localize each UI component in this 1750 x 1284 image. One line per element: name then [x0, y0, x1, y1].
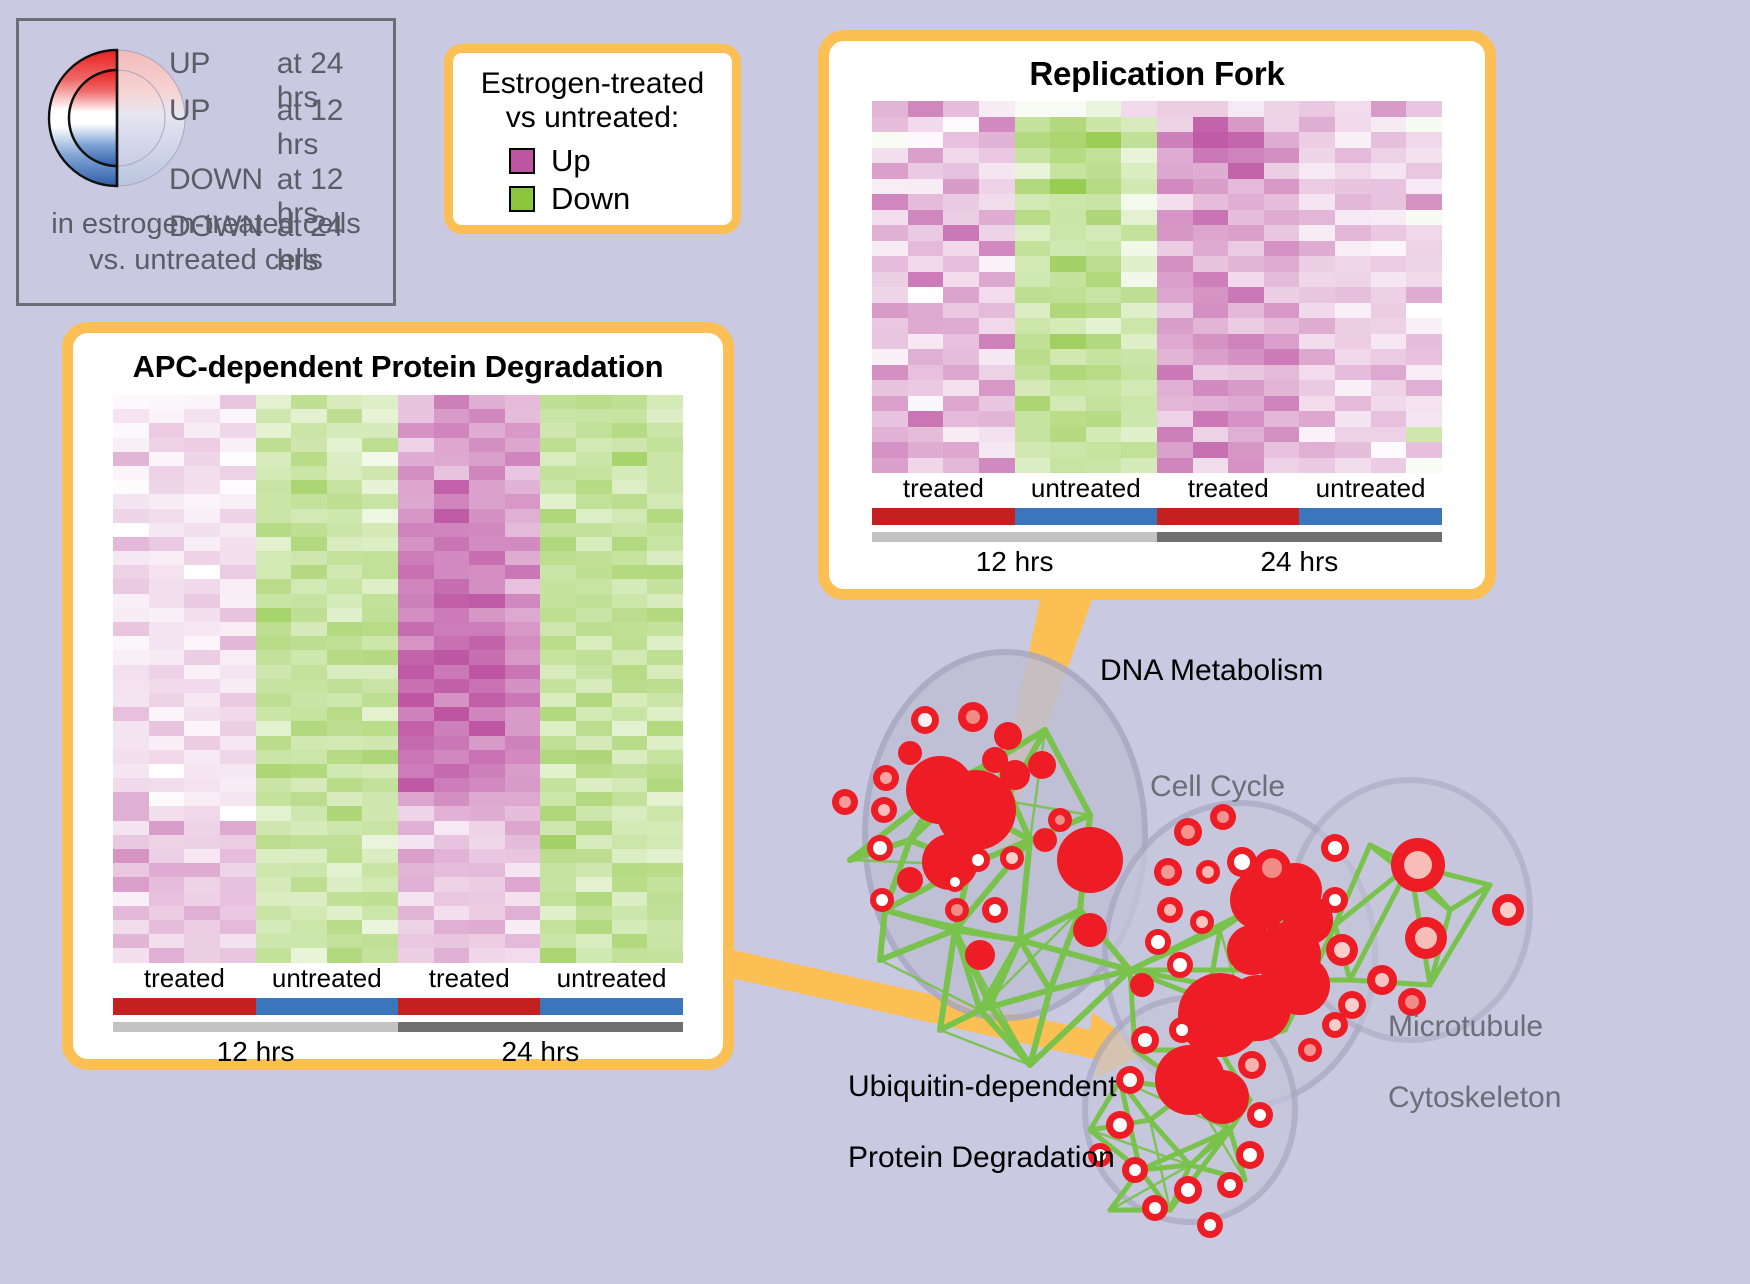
estrogen-legend-items: Up Down	[453, 142, 732, 218]
heatmap-cell	[1121, 117, 1157, 133]
heatmap-cell	[943, 396, 979, 412]
heatmap-cell	[256, 395, 292, 409]
heatmap-cell	[576, 906, 612, 920]
heatmap-cell	[362, 849, 398, 863]
heatmap-cell	[979, 117, 1015, 133]
heatmap-cell	[1050, 256, 1086, 272]
heatmap-cell	[1015, 163, 1051, 179]
heatmap-cell	[1299, 241, 1335, 257]
heatmap-cell	[612, 920, 648, 934]
timepoint-labels: 12 hrs 24 hrs	[113, 1036, 683, 1068]
heatmap-cell	[256, 679, 292, 693]
heatmap-cell	[256, 466, 292, 480]
heatmap-cell	[505, 594, 541, 608]
heatmap-cell	[362, 395, 398, 409]
heatmap-cell	[398, 551, 434, 565]
heatmap-cell	[113, 707, 149, 721]
heatmap-cell	[1050, 101, 1086, 117]
heatmap-cell	[327, 835, 363, 849]
heatmap-cell	[1086, 318, 1122, 334]
heatmap-cell	[434, 707, 470, 721]
heatmap-cell	[540, 806, 576, 820]
heatmap-cell	[113, 636, 149, 650]
heatmap-cell	[149, 579, 185, 593]
heatmap-cell	[576, 750, 612, 764]
heatmap-cell	[872, 148, 908, 164]
heatmap-cell	[1406, 396, 1442, 412]
cluster-label-line2: Cytoskeleton	[1388, 1080, 1561, 1115]
estrogen-legend-title-line1: Estrogen-treated	[453, 67, 732, 101]
heatmap-cell	[505, 863, 541, 877]
heatmap-cell	[434, 821, 470, 835]
heatmap-cell	[576, 579, 612, 593]
heatmap-cell	[612, 636, 648, 650]
heatmap-cell	[1406, 194, 1442, 210]
heatmap-cell	[943, 442, 979, 458]
heatmap-cell	[576, 665, 612, 679]
heatmap-cell	[434, 792, 470, 806]
heatmap-cell	[612, 863, 648, 877]
key-direction: UP	[169, 47, 277, 81]
heatmap-cell	[908, 132, 944, 148]
heatmap-cell	[398, 636, 434, 650]
heatmap-cell	[149, 821, 185, 835]
heatmap-cell	[327, 721, 363, 735]
heatmap-cell	[1157, 334, 1193, 350]
heatmap-cell	[469, 452, 505, 466]
heatmap-cell	[612, 565, 648, 579]
heatmap-cell	[291, 409, 327, 423]
heatmap-cell	[434, 906, 470, 920]
heatmap-cell	[1086, 396, 1122, 412]
heatmap-cell	[1157, 132, 1193, 148]
heatmap-cell	[1264, 365, 1300, 381]
heatmap-cell	[469, 806, 505, 820]
heatmap-cell	[362, 665, 398, 679]
heatmap-cell	[220, 608, 256, 622]
heatmap-cell	[647, 849, 683, 863]
heatmap-cell	[1371, 101, 1407, 117]
heatmap-cell	[469, 736, 505, 750]
heatmap-cell	[1086, 210, 1122, 226]
heatmap-cell	[1121, 396, 1157, 412]
heatmap-cell	[398, 452, 434, 466]
heatmap-cell	[540, 736, 576, 750]
heatmap-cell	[398, 863, 434, 877]
heatmap-cell	[469, 395, 505, 409]
heatmap-cell	[1406, 272, 1442, 288]
heatmap-cell	[1015, 458, 1051, 474]
heatmap-cell	[220, 934, 256, 948]
heatmap-cell	[327, 849, 363, 863]
heatmap-cell	[184, 750, 220, 764]
heatmap-cell	[149, 778, 185, 792]
heatmap-cell	[398, 920, 434, 934]
heatmap-cell	[327, 579, 363, 593]
heatmap-cell	[505, 736, 541, 750]
heatmap-cell	[1371, 272, 1407, 288]
heatmap-cell	[1193, 365, 1229, 381]
column-annotations-apc: treated untreated treated untreated 12 h	[113, 963, 683, 1068]
heatmap-cell	[113, 409, 149, 423]
down-swatch-icon	[509, 186, 535, 212]
heatmap-cell	[256, 452, 292, 466]
treatment-label: treated	[1157, 473, 1299, 504]
heatmap-cell	[647, 452, 683, 466]
heatmap-cell	[149, 565, 185, 579]
heatmap-cell	[113, 579, 149, 593]
heatmap-cell	[149, 523, 185, 537]
heatmap-cell	[576, 551, 612, 565]
heatmap-cell	[1050, 225, 1086, 241]
heatmap-cell	[647, 395, 683, 409]
heatmap-cell	[327, 906, 363, 920]
heatmap-cell	[149, 409, 185, 423]
heatmap-cell	[540, 665, 576, 679]
heatmap-cell	[612, 721, 648, 735]
heatmap-cell	[149, 863, 185, 877]
heatmap-cell	[469, 466, 505, 480]
heatmap-cell	[469, 821, 505, 835]
heatmap-cell	[220, 579, 256, 593]
estrogen-legend-title-line2: vs untreated:	[453, 101, 732, 135]
heatmap-cell	[1086, 442, 1122, 458]
heatmap-cell	[943, 256, 979, 272]
heatmap-cell	[1015, 318, 1051, 334]
heatmap-cell	[943, 318, 979, 334]
heatmap-cell	[184, 494, 220, 508]
heatmap-cell	[943, 179, 979, 195]
heatmap-cell	[184, 509, 220, 523]
heatmap-cell	[647, 480, 683, 494]
heatmap-cell	[220, 494, 256, 508]
heatmap-cell	[1086, 225, 1122, 241]
heatmap-cell	[1371, 256, 1407, 272]
heatmap-cell	[220, 480, 256, 494]
heatmap-cell	[576, 452, 612, 466]
heatmap-cell	[1121, 148, 1157, 164]
heatmap-cell	[647, 565, 683, 579]
heatmap-cell	[612, 750, 648, 764]
heatmap-cell	[291, 679, 327, 693]
heatmap-cell	[612, 821, 648, 835]
heatmap-cell	[908, 427, 944, 443]
heatmap-cell	[362, 579, 398, 593]
heatmap-cell	[469, 594, 505, 608]
heatmap-cell	[540, 650, 576, 664]
heatmap-cell	[113, 650, 149, 664]
heatmap-cell	[908, 442, 944, 458]
heatmap-cell	[1193, 256, 1229, 272]
heatmap-cell	[184, 849, 220, 863]
heatmap-cell	[1050, 117, 1086, 133]
heatmap-cell	[1335, 148, 1371, 164]
heatmap-cell	[1157, 396, 1193, 412]
heatmap-cell	[1406, 241, 1442, 257]
heatmap-cell	[1371, 334, 1407, 350]
heatmap-cell	[469, 835, 505, 849]
heatmap-cell	[291, 452, 327, 466]
heatmap-cell	[149, 395, 185, 409]
heatmap-cell	[327, 806, 363, 820]
heatmap-cell	[220, 679, 256, 693]
heatmap-cell	[1193, 210, 1229, 226]
heatmap-cell	[1228, 148, 1264, 164]
heatmap-cell	[1371, 132, 1407, 148]
heatmap-cell	[540, 594, 576, 608]
cluster-label-line2: Protein Degradation	[848, 1140, 1117, 1175]
heatmap-cell	[908, 272, 944, 288]
heatmap-cell	[505, 494, 541, 508]
heatmap-cell	[1228, 303, 1264, 319]
heatmap-cell	[256, 835, 292, 849]
heatmap-cell	[113, 438, 149, 452]
heatmap-cell	[327, 792, 363, 806]
heatmap-cell	[1050, 349, 1086, 365]
heatmap-cell	[398, 750, 434, 764]
heatmap-cell	[398, 821, 434, 835]
heatmap-cell	[576, 509, 612, 523]
heatmap-cell	[184, 863, 220, 877]
heatmap-cell	[647, 693, 683, 707]
heatmap-cell	[647, 821, 683, 835]
heatmap-cell	[149, 551, 185, 565]
legend-label-up: Up	[551, 143, 591, 179]
heatmap-cell	[256, 665, 292, 679]
heatmap-cell	[647, 792, 683, 806]
heatmap-cell	[291, 622, 327, 636]
heatmap-cell	[1264, 210, 1300, 226]
heatmap-cell	[113, 750, 149, 764]
heatmap-cell	[540, 636, 576, 650]
timepoint-bar-segment	[1157, 532, 1442, 542]
heatmap-cell	[1371, 241, 1407, 257]
heatmap-cell	[113, 877, 149, 891]
heatmap-cell	[612, 423, 648, 437]
heatmap-cell	[1121, 365, 1157, 381]
heatmap-cell	[362, 764, 398, 778]
heatmap-cell	[149, 452, 185, 466]
heatmap-cell	[362, 565, 398, 579]
heatmap-cell	[1086, 272, 1122, 288]
heatmap-cell	[908, 349, 944, 365]
heatmap-cell	[291, 892, 327, 906]
heatmap-cell	[505, 679, 541, 693]
heatmap-cell	[398, 948, 434, 962]
heatmap-cell	[184, 523, 220, 537]
heatmap-cell	[398, 835, 434, 849]
heatmap-cell	[434, 438, 470, 452]
heatmap-cell	[872, 334, 908, 350]
heatmap-cell	[979, 132, 1015, 148]
heatmap-cell	[505, 750, 541, 764]
cluster-label-line1: Ubiquitin-dependent	[848, 1069, 1117, 1104]
heatmap-cell	[647, 863, 683, 877]
heatmap-cell	[1228, 349, 1264, 365]
heatmap-cell	[1371, 303, 1407, 319]
heatmap-cell	[256, 736, 292, 750]
heatmap-cell	[113, 679, 149, 693]
heatmap-cell	[1015, 427, 1051, 443]
heatmap-cell	[256, 622, 292, 636]
heatmap-cell	[647, 438, 683, 452]
heatmap-cell	[1086, 411, 1122, 427]
heatmap-cell	[1406, 148, 1442, 164]
heatmap-cell	[1406, 287, 1442, 303]
heatmap-cell	[612, 409, 648, 423]
heatmap-cell	[540, 409, 576, 423]
heatmap-cell	[256, 863, 292, 877]
heatmap-cell	[647, 423, 683, 437]
heatmap-cell	[1050, 458, 1086, 474]
heatmap-cell	[943, 380, 979, 396]
heatmap-cell	[540, 608, 576, 622]
heatmap-cell	[291, 778, 327, 792]
heatmap-cell	[434, 877, 470, 891]
heatmap-cell	[612, 877, 648, 891]
heatmap-cell	[576, 721, 612, 735]
heatmap-cell	[398, 764, 434, 778]
key-row: DOWN at 12 hrs	[169, 163, 389, 210]
cluster-label-dna-metabolism: DNA Metabolism	[1100, 654, 1323, 688]
heatmap-cell	[612, 707, 648, 721]
heatmap-cell	[647, 665, 683, 679]
heatmap-cell	[1299, 225, 1335, 241]
heatmap-cell	[1371, 148, 1407, 164]
heatmap-cell	[908, 318, 944, 334]
heatmap-cell	[576, 934, 612, 948]
heatmap-cell	[1335, 117, 1371, 133]
heatmap-cell	[149, 750, 185, 764]
heatmap-cell	[291, 835, 327, 849]
heatmap-cell	[113, 792, 149, 806]
heatmap-cell	[220, 636, 256, 650]
heatmap-cell	[291, 934, 327, 948]
heatmap-cell	[576, 920, 612, 934]
heatmap-cell	[576, 537, 612, 551]
heatmap-cell	[612, 835, 648, 849]
heatmap-cell	[1121, 256, 1157, 272]
heatmap-cell	[113, 622, 149, 636]
heatmap-cell	[327, 892, 363, 906]
heatmap-cell	[612, 693, 648, 707]
heatmap-cell	[256, 920, 292, 934]
heatmap-cell	[1157, 365, 1193, 381]
heatmap-cell	[979, 334, 1015, 350]
heatmap-cell	[398, 693, 434, 707]
heatmap-cell	[327, 636, 363, 650]
heatmap-cell	[469, 608, 505, 622]
heatmap-cell	[327, 920, 363, 934]
heatmap-cell	[540, 721, 576, 735]
heatmap-cell	[184, 594, 220, 608]
heatmap-cell	[327, 494, 363, 508]
heatmap-cell	[1157, 210, 1193, 226]
heatmap-cell	[184, 480, 220, 494]
heatmap-cell	[908, 148, 944, 164]
heatmap-cell	[1299, 303, 1335, 319]
heatmap-cell	[1406, 225, 1442, 241]
heatmap-cell	[872, 101, 908, 117]
heatmap-cell	[612, 849, 648, 863]
heatmap-cell	[1228, 117, 1264, 133]
heatmap-cell	[943, 210, 979, 226]
heatmap-cell	[184, 423, 220, 437]
heatmap-cell	[434, 622, 470, 636]
heatmap-cell	[1335, 179, 1371, 195]
heatmap-cell	[1335, 194, 1371, 210]
heatmap-cell	[291, 551, 327, 565]
up-down-ring-diagram	[47, 41, 187, 196]
heatmap-cell	[505, 650, 541, 664]
treatment-label: treated	[398, 963, 540, 994]
heatmap-cell	[1264, 194, 1300, 210]
heatmap-cell	[612, 579, 648, 593]
heatmap-cell	[1086, 349, 1122, 365]
heatmap-cell	[113, 806, 149, 820]
heatmap-cell	[113, 509, 149, 523]
heatmap-cell	[979, 411, 1015, 427]
heatmap-cell	[979, 163, 1015, 179]
panel-title-replication-fork: Replication Fork	[829, 55, 1485, 93]
heatmap-cell	[434, 608, 470, 622]
heatmap-cell	[576, 863, 612, 877]
heatmap-cell	[1406, 101, 1442, 117]
heatmap-cell	[149, 594, 185, 608]
heatmap-cell	[1015, 380, 1051, 396]
heatmap-cell	[362, 906, 398, 920]
heatmap-cell	[1299, 334, 1335, 350]
heatmap-cell	[1406, 117, 1442, 133]
heatmap-cell	[469, 622, 505, 636]
heatmap-cell	[505, 877, 541, 891]
treatment-bar-segment	[872, 508, 1014, 525]
heatmap-cell	[647, 509, 683, 523]
heatmap-cell	[647, 892, 683, 906]
heatmap-cell	[1086, 148, 1122, 164]
heatmap-cell	[505, 693, 541, 707]
heatmap-cell	[505, 821, 541, 835]
heatmap-cell	[398, 792, 434, 806]
heatmap-cell	[149, 877, 185, 891]
heatmap-cell	[505, 906, 541, 920]
heatmap-cell	[647, 594, 683, 608]
heatmap-cell	[256, 849, 292, 863]
heatmap-cell	[1299, 132, 1335, 148]
heatmap-cell	[1193, 380, 1229, 396]
heatmap-cell	[1157, 241, 1193, 257]
treatment-labels: treated untreated treated untreated	[872, 473, 1442, 504]
heatmap-cell	[469, 877, 505, 891]
heatmap-cell	[1015, 132, 1051, 148]
heatmap-cell	[1371, 380, 1407, 396]
heatmap-cell	[220, 764, 256, 778]
heatmap-cell	[1406, 411, 1442, 427]
heatmap-cell	[1015, 148, 1051, 164]
heatmap-cell	[1264, 427, 1300, 443]
heatmap-cell	[113, 537, 149, 551]
heatmap-cell	[398, 721, 434, 735]
heatmap-cell	[647, 650, 683, 664]
heatmap-cell	[256, 821, 292, 835]
heatmap-cell	[1157, 411, 1193, 427]
heatmap-cell	[505, 452, 541, 466]
heatmap-cell	[469, 579, 505, 593]
heatmap-cell	[362, 409, 398, 423]
heatmap-cell	[1121, 225, 1157, 241]
heatmap-cell	[398, 608, 434, 622]
heatmap-cell	[291, 792, 327, 806]
